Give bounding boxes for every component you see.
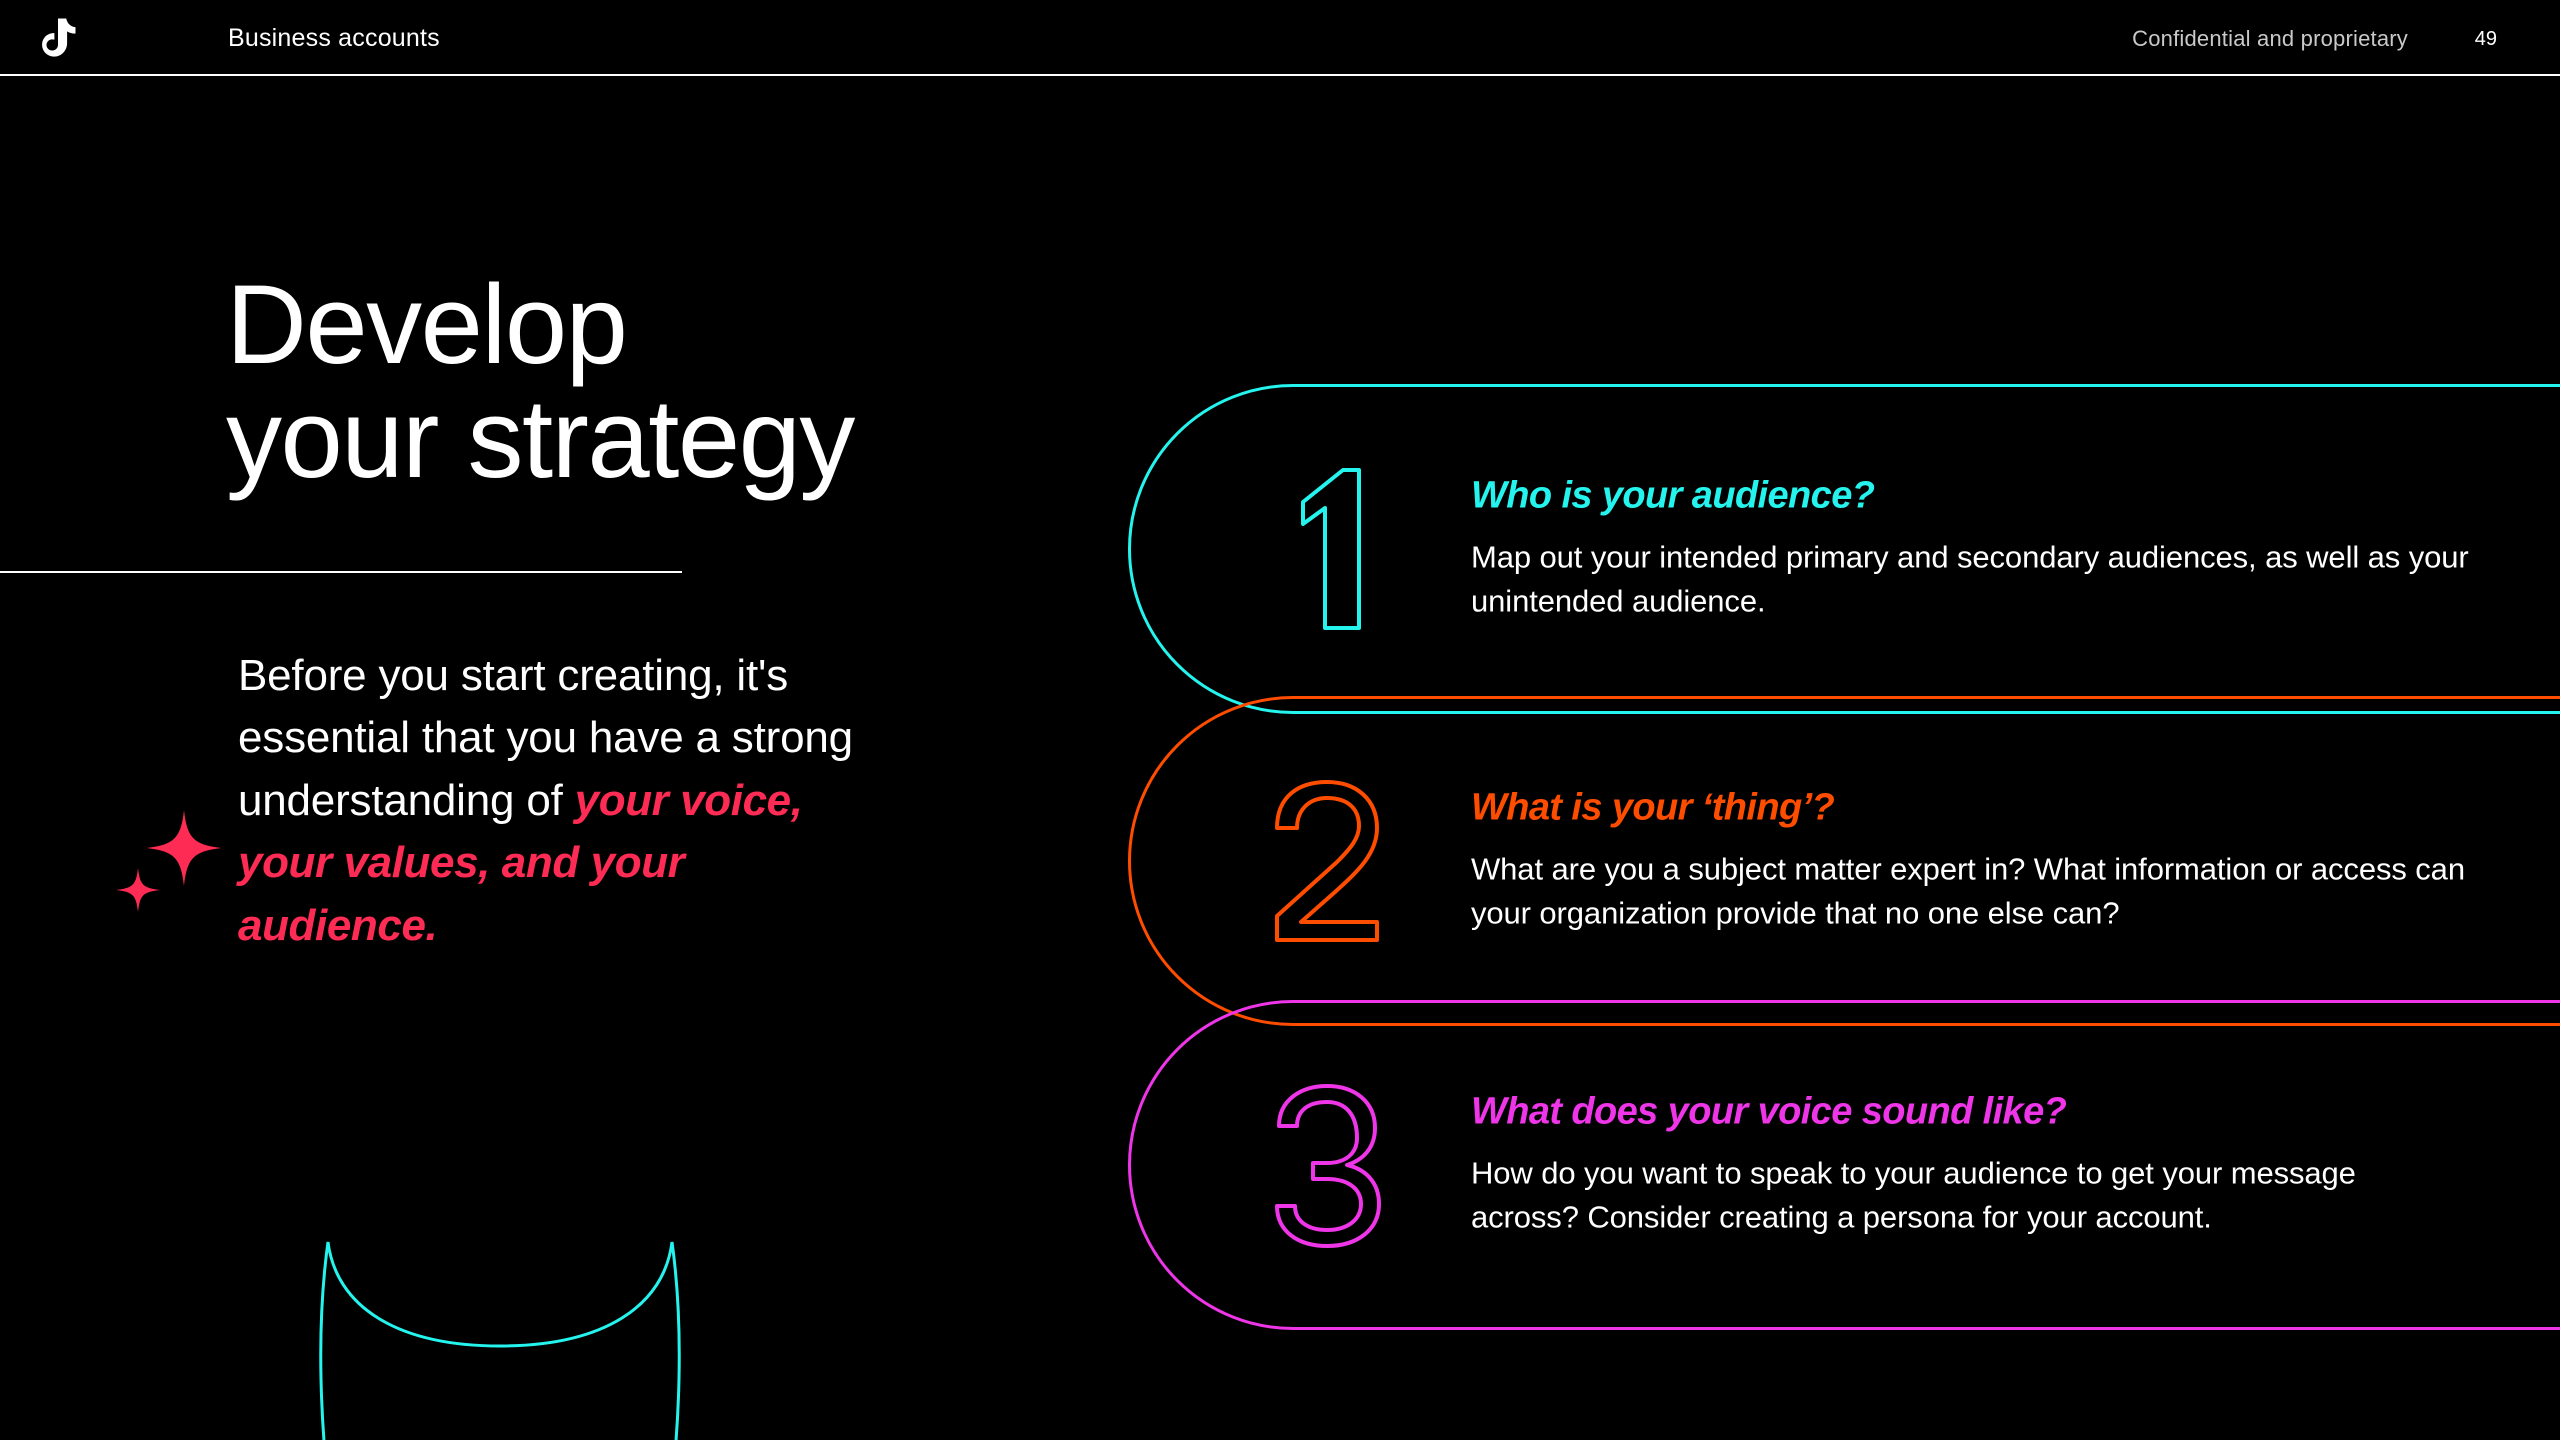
card-2-text: What are you a subject matter expert in?… xyxy=(1471,847,2471,935)
card-1-text: Map out your intended primary and second… xyxy=(1471,535,2471,623)
header-deck-title: Business accounts xyxy=(228,24,440,53)
slide-canvas: Business accounts Confidential and propr… xyxy=(0,0,2560,1440)
page-title: Develop your strategy xyxy=(226,268,854,496)
header-confidential-label: Confidential and proprietary xyxy=(2132,26,2408,52)
sparkle-icon xyxy=(112,800,232,920)
slide-header: Business accounts Confidential and propr… xyxy=(0,0,2560,75)
title-divider xyxy=(0,571,682,573)
card-3-text: How do you want to speak to your audienc… xyxy=(1471,1151,2471,1239)
card-number-2-icon xyxy=(1251,776,1401,946)
strategy-card-2[interactable]: What is your ‘thing’? What are you a sub… xyxy=(1128,696,2560,1026)
card-2-body: What is your ‘thing’? What are you a sub… xyxy=(1471,786,2471,935)
card-number-1-icon xyxy=(1251,464,1401,634)
card-3-body: What does your voice sound like? How do … xyxy=(1471,1090,2471,1239)
header-page-number: 49 xyxy=(2475,28,2497,51)
star-blob-outline-icon xyxy=(300,1228,700,1440)
lead-paragraph: Before you start creating, it's essentia… xyxy=(238,645,858,957)
tiktok-logo-icon xyxy=(32,10,88,66)
card-number-3-icon xyxy=(1251,1080,1401,1250)
card-1-body: Who is your audience? Map out your inten… xyxy=(1471,474,2471,623)
card-2-heading: What is your ‘thing’? xyxy=(1471,786,2471,829)
strategy-card-1[interactable]: Who is your audience? Map out your inten… xyxy=(1128,384,2560,714)
card-1-heading: Who is your audience? xyxy=(1471,474,2471,517)
strategy-card-3[interactable]: What does your voice sound like? How do … xyxy=(1128,1000,2560,1330)
card-3-heading: What does your voice sound like? xyxy=(1471,1090,2471,1133)
header-divider xyxy=(0,74,2560,76)
